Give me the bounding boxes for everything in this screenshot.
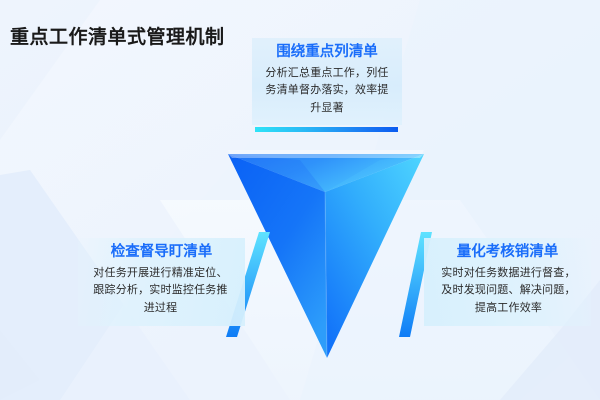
pyramid-top-face-right-shade: [325, 154, 424, 192]
card-top-heading: 围绕重点列清单: [258, 43, 396, 63]
card-left-heading: 检查督导盯清单: [82, 243, 241, 263]
slide-canvas: 重点工作清单式管理机制: [0, 0, 600, 400]
page-title: 重点工作清单式管理机制: [10, 22, 225, 49]
pyramid-top-rim-highlight: [228, 154, 424, 158]
card-left-body: 对任务开展进行精准定位、跟踪分析，实时监控任务推进过程: [82, 263, 241, 318]
pyramid-center-edge: [325, 192, 327, 358]
pyramid-top-face-left-shade: [228, 154, 325, 192]
card-left[interactable]: 检查督导盯清单 对任务开展进行精准定位、跟踪分析，实时监控任务推进过程: [78, 238, 245, 326]
card-right-body: 实时对任务数据进行督查，及时发现问题、解决问题，提高工作效率: [428, 263, 587, 318]
card-right[interactable]: 量化考核销清单 实时对任务数据进行督查，及时发现问题、解决问题，提高工作效率: [424, 238, 591, 326]
card-right-heading: 量化考核销清单: [428, 243, 587, 263]
pyramid-right-face: [325, 154, 424, 358]
card-top-accent-bar: [255, 127, 398, 132]
pyramid-top-face-left: [228, 154, 424, 192]
card-top[interactable]: 围绕重点列清单 分析汇总重点工作，列任务清单督办落实，效率提升显著: [252, 38, 402, 125]
card-top-body: 分析汇总重点工作，列任务清单督办落实，效率提升显著: [258, 63, 396, 118]
